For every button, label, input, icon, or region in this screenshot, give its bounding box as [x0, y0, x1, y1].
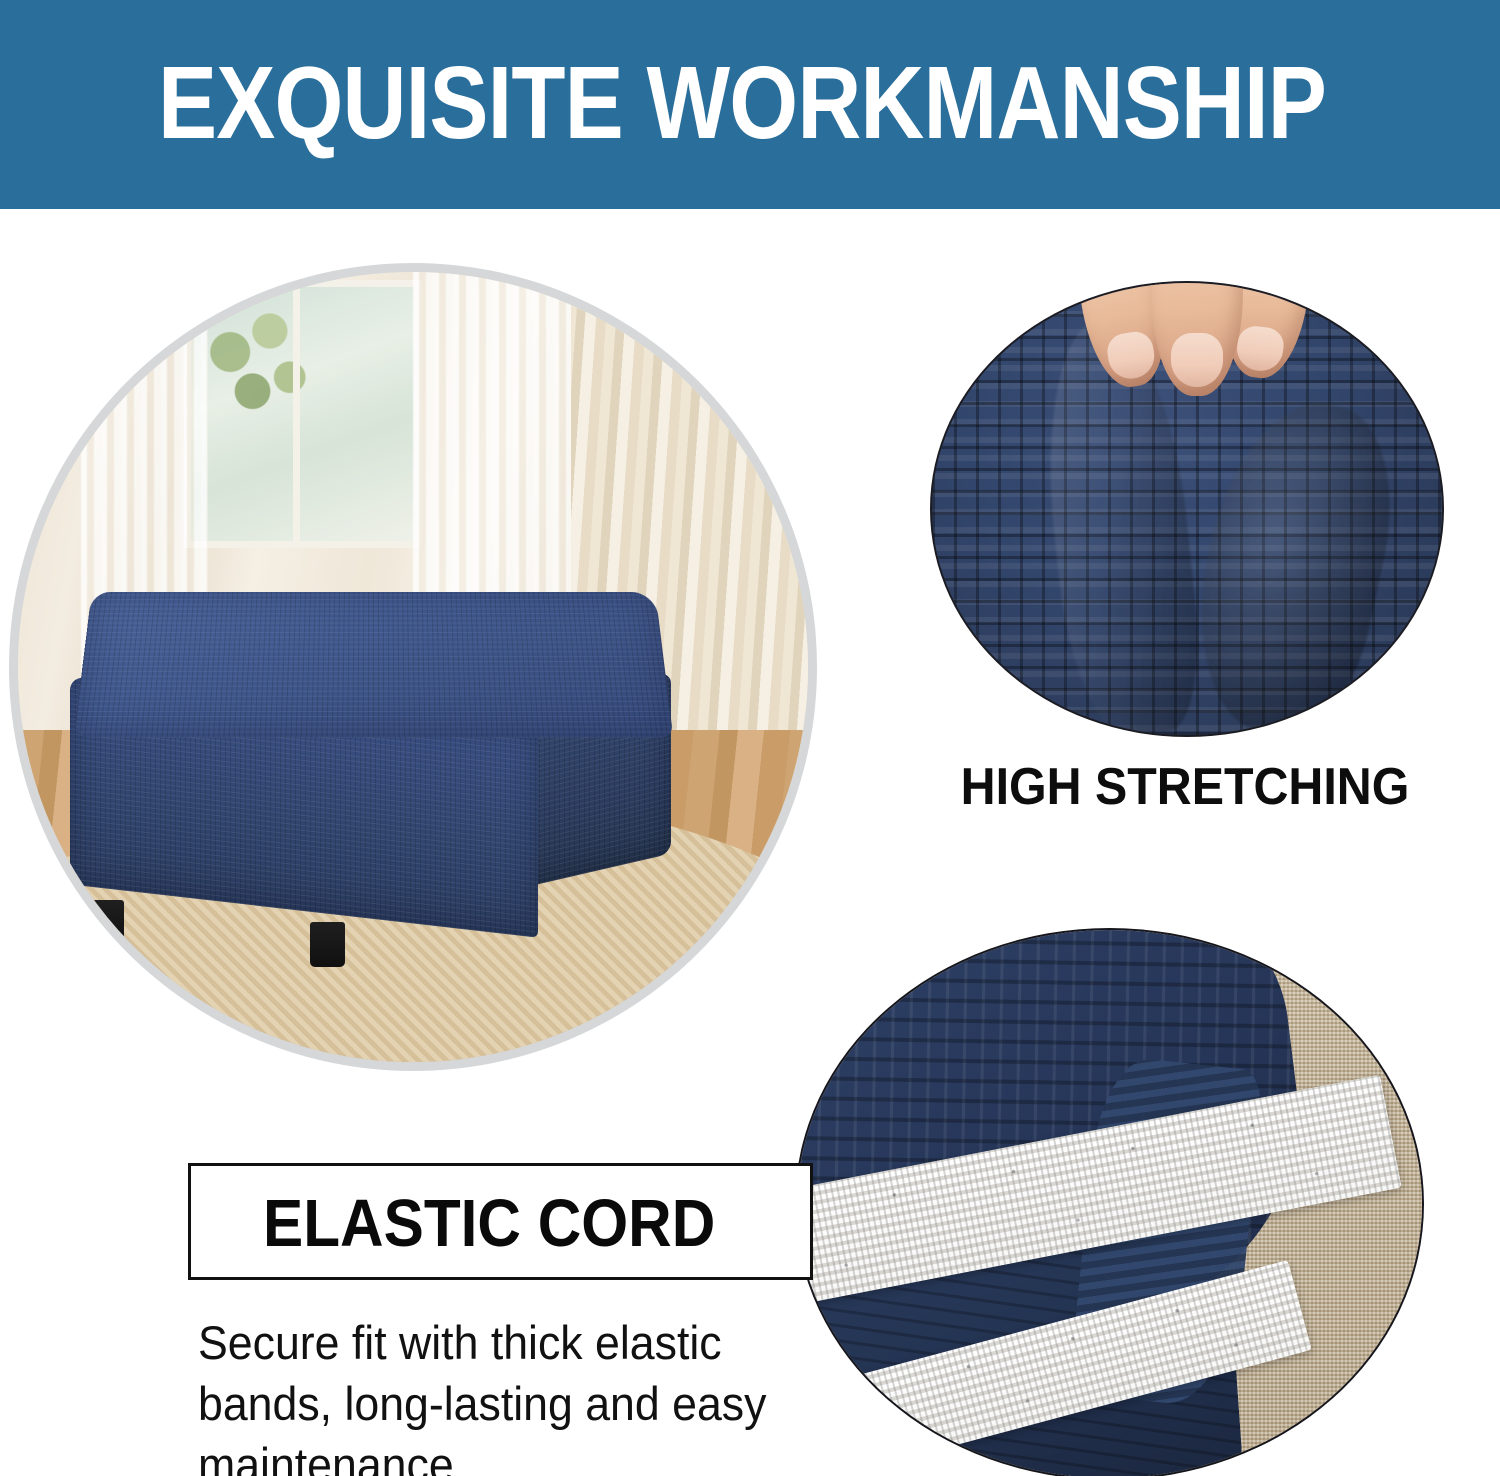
- fingernail: [1234, 324, 1285, 373]
- elastic-cord-label-box: ELASTIC CORD: [188, 1163, 813, 1280]
- elastic-cord-photo: [795, 928, 1424, 1476]
- elastic-cord-label: ELASTIC CORD: [263, 1183, 715, 1265]
- ottoman-slipcover: [58, 588, 690, 959]
- ottoman-leg-left: [89, 900, 124, 945]
- fingernail: [1105, 330, 1157, 382]
- ottoman-top-panel: [74, 592, 674, 737]
- product-feature-image: EXQUISITE WORKMANSHIP: [0, 0, 1500, 1476]
- fingernail: [1171, 333, 1222, 387]
- ottoman-leg-middle: [310, 922, 345, 967]
- window-foliage: [193, 296, 316, 436]
- elastic-cord-description: Secure fit with thick elastic bands, lon…: [198, 1312, 806, 1476]
- knit-texture: [74, 592, 674, 737]
- high-stretching-photo: [930, 281, 1444, 737]
- banner-title: EXQUISITE WORKMANSHIP: [158, 44, 1326, 162]
- high-stretching-label: HIGH STRETCHING: [925, 758, 1446, 816]
- hero-product-photo: [18, 272, 808, 1062]
- window: [184, 280, 421, 549]
- header-banner: EXQUISITE WORKMANSHIP: [0, 0, 1500, 209]
